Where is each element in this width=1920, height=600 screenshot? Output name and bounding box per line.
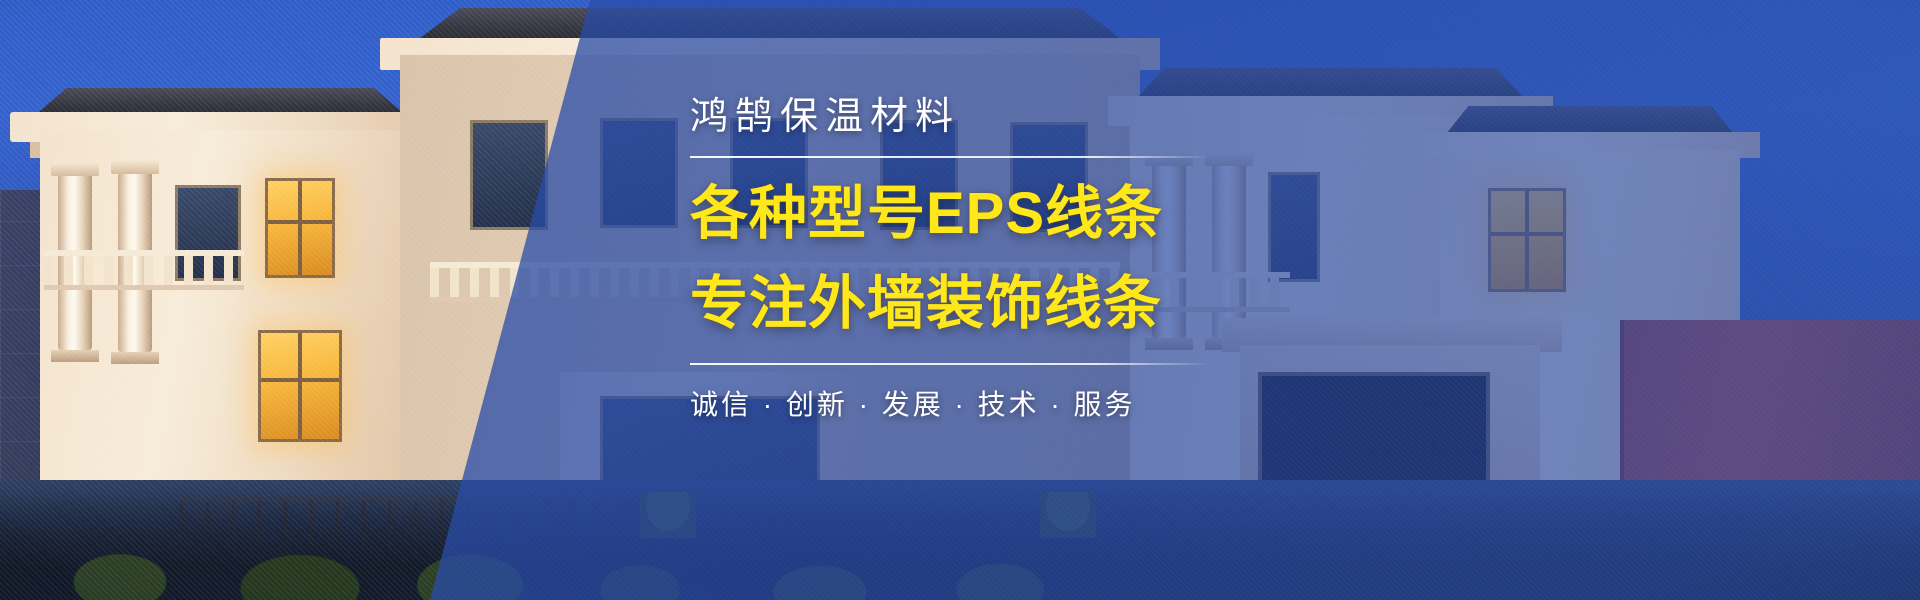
far-right-roof [1430,106,1750,134]
window-dark [600,118,678,228]
planter [1040,492,1096,538]
column-base [111,352,159,364]
window-lit [265,178,335,278]
tagline: 诚信 · 创新 · 发展 · 技术 · 服务 [690,383,1330,423]
shrubs [0,490,1920,600]
brand-name: 鸿鹄保温材料 [690,96,1330,140]
window-lit [1488,188,1566,292]
headline-line-2: 专注外墙装饰线条 [690,270,1330,338]
divider-rule-bottom [690,363,1210,365]
center-roof [392,8,1148,42]
banner-copy-block: 鸿鹄保温材料 各种型号EPS线条 专注外墙装饰线条 诚信 · 创新 · 发展 ·… [690,96,1330,423]
window-lit [258,330,342,442]
column-base [51,350,99,362]
headline-line-1: 各种型号EPS线条 [690,180,1330,248]
column-capital [51,162,99,176]
promotional-banner: 鸿鹄保温材料 各种型号EPS线条 专注外墙装饰线条 诚信 · 创新 · 发展 ·… [0,0,1920,600]
balustrade [44,250,244,290]
column-capital [111,160,159,174]
planter [640,492,696,538]
window-dark [470,120,548,230]
divider-rule-top [690,156,1210,158]
